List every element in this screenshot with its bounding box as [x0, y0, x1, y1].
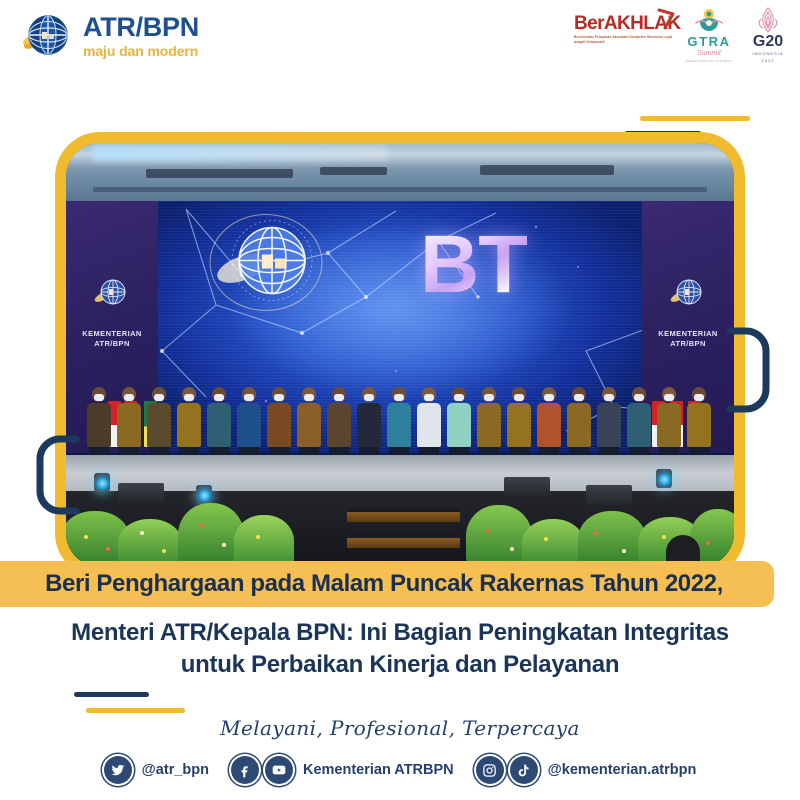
- page-header: ATR/BPN maju dan modern BerAKHLAK Berori…: [0, 0, 800, 80]
- instagram-tiktok-handle[interactable]: @kementerian.atrbpn: [548, 762, 697, 778]
- flower-bush: [234, 515, 294, 567]
- side-banner-line1: KEMENTERIAN: [82, 329, 141, 338]
- atrbpn-globe-emblem-icon: [18, 8, 74, 64]
- led-screen-text: BT: [420, 224, 527, 306]
- gtra-wordmark: GTRA: [683, 35, 735, 48]
- headline-subtext: Menteri ATR/Kepala BPN: Ini Bagian Penin…: [0, 617, 800, 680]
- flower-bush: [522, 519, 584, 567]
- flower-bush: [578, 511, 646, 567]
- berakhlak-tagline: Berorientasi Pelayanan Akuntabel Kompete…: [574, 35, 674, 45]
- g20-sub-line1: INDONESIA: [744, 51, 792, 57]
- youtube-icon[interactable]: [265, 756, 293, 784]
- atrbpn-globe-emblem-icon: [94, 275, 130, 316]
- ceiling-bar: [480, 165, 614, 175]
- facebook-youtube-handle[interactable]: Kementerian ATRBPN: [303, 762, 454, 778]
- brand-subtitle: maju dan modern: [83, 44, 199, 58]
- atrbpn-globe-emblem-icon: [670, 275, 706, 316]
- headline-sub-line2: untuk Perbaikan Kinerja dan Pelayanan: [0, 649, 800, 681]
- facebook-icon[interactable]: [231, 756, 259, 784]
- side-banner-line2: ATR/BPN: [94, 339, 130, 348]
- side-banner-line2: ATR/BPN: [670, 339, 706, 348]
- g20-sub-line2: 2022: [744, 58, 792, 64]
- decor-dash-navy-bottom-left: [74, 692, 149, 697]
- g20-wordmark: G20: [744, 34, 792, 50]
- berakhlak-swoosh-icon: [656, 8, 676, 35]
- instagram-icon[interactable]: [476, 756, 504, 784]
- twitter-handle[interactable]: @atr_bpn: [142, 762, 209, 778]
- decor-dash-yellow-bottom-left: [86, 708, 185, 713]
- flower-bush: [118, 519, 182, 567]
- brand-lockup: ATR/BPN maju dan modern: [18, 8, 199, 64]
- gtra-summit-logo: GTRA Summit KEMENTERIAN ATR/BPN: [683, 6, 735, 63]
- gtra-script-label: Summit: [683, 50, 735, 57]
- social-group-facebook-youtube: Kementerian ATRBPN: [231, 756, 454, 784]
- decor-bracket-navy-left: [36, 435, 80, 515]
- gtra-mark-icon: [683, 8, 735, 34]
- decor-dash-navy-top-right: [624, 131, 702, 137]
- berakhlak-logo: BerAKHLAK Berorientasi Pelayanan Akuntab…: [574, 6, 674, 45]
- led-globe-emblem-icon: [206, 207, 326, 324]
- headline-banner: Beri Penghargaan pada Malam Puncak Raker…: [0, 561, 774, 607]
- side-banner-line1: KEMENTERIAN: [658, 329, 717, 338]
- ceiling-light-glow: [93, 145, 387, 161]
- ceiling-bar: [320, 167, 387, 175]
- social-group-instagram-tiktok: @kementerian.atrbpn: [476, 756, 697, 784]
- ceiling-bar: [146, 169, 293, 178]
- footer-social-bar: @atr_bpn Kementerian ATRBPN: [0, 756, 800, 784]
- partner-logos: BerAKHLAK Berorientasi Pelayanan Akuntab…: [574, 6, 792, 64]
- headline-banner-text: Beri Penghargaan pada Malam Puncak Raker…: [25, 570, 723, 598]
- twitter-icon[interactable]: [104, 756, 132, 784]
- headline-sub-line1: Menteri ATR/Kepala BPN: Ini Bagian Penin…: [0, 617, 800, 649]
- decor-bracket-navy-right: [726, 327, 770, 413]
- event-photo: BT KEMENTERIAN ATR/: [66, 143, 734, 567]
- g20-batik-icon: [744, 7, 792, 34]
- event-photo-frame: BT KEMENTERIAN ATR/: [66, 143, 734, 567]
- decor-dash-yellow-top-right: [640, 116, 750, 121]
- gtra-tiny-label: KEMENTERIAN ATR/BPN: [683, 59, 735, 63]
- side-banner-right-text: KEMENTERIAN ATR/BPN: [658, 329, 717, 349]
- ceiling-bar: [93, 187, 708, 192]
- brand-title: ATR/BPN: [83, 14, 199, 41]
- g20-logo: G20 INDONESIA 2022: [744, 6, 792, 64]
- tiktok-icon[interactable]: [510, 756, 538, 784]
- social-group-twitter: @atr_bpn: [104, 756, 209, 784]
- flower-arrangements: [66, 483, 734, 567]
- footer-tagline: Melayani, Profesional, Terpercaya: [0, 716, 800, 740]
- venue-ceiling: [66, 143, 734, 207]
- side-banner-left-text: KEMENTERIAN ATR/BPN: [82, 329, 141, 349]
